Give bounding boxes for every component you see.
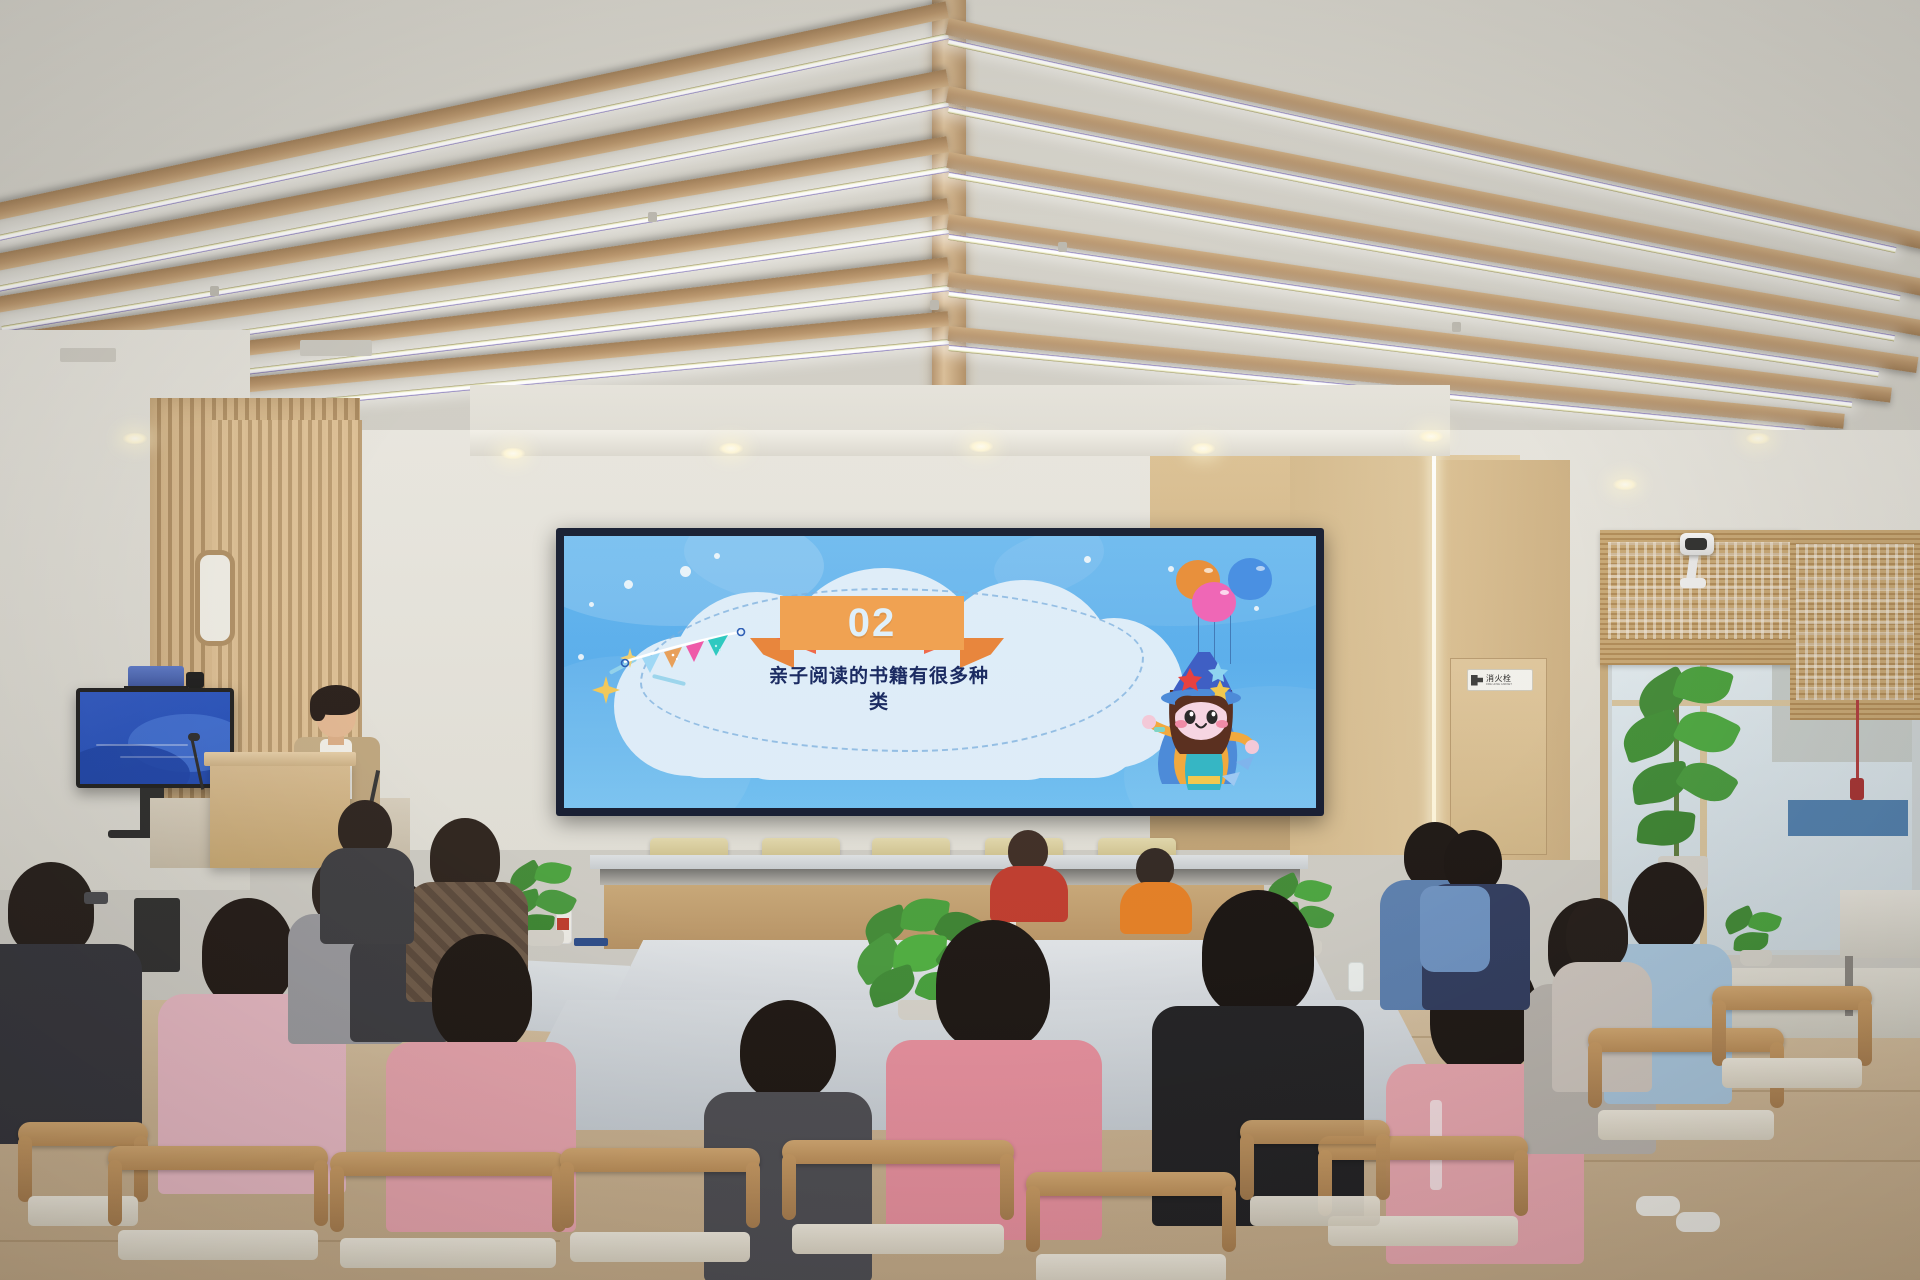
video-conference-camera — [128, 666, 184, 688]
chair[interactable] — [330, 1152, 566, 1280]
section-number: 02 — [848, 601, 897, 646]
chair[interactable] — [1240, 1120, 1390, 1240]
chair[interactable] — [782, 1140, 1014, 1280]
shoe — [1676, 1212, 1720, 1232]
camera-mount-base — [1680, 578, 1706, 588]
fire-hydrant-sign: 消火栓 FIRE HOSE CABINET — [1467, 669, 1533, 691]
ceiling-led-strip — [0, 101, 949, 292]
ceiling-soffit-face — [470, 430, 1450, 456]
security-camera-icon — [1680, 533, 1714, 555]
balloon-blue-icon — [1228, 558, 1272, 600]
window-outside-detail — [1788, 800, 1908, 836]
ceiling-vent — [60, 348, 116, 362]
sprinkler-head — [930, 300, 939, 310]
room-photo: 消火栓 FIRE HOSE CABINET — [0, 0, 1920, 1280]
chair[interactable] — [560, 1148, 760, 1280]
rear-table — [590, 855, 1308, 869]
rear-table-legs — [600, 869, 1300, 885]
lectern-top — [204, 752, 356, 766]
flat-panel-tv-screen[interactable] — [80, 692, 230, 784]
sprinkler-head — [1058, 242, 1067, 252]
bamboo-blind-right[interactable] — [1790, 530, 1920, 720]
potted-plant-right-tall — [1614, 660, 1744, 890]
chair[interactable] — [1712, 986, 1872, 1106]
led-video-wall-screen[interactable]: 02 亲子阅读的书籍有很多种 类 — [564, 536, 1316, 808]
sprinkler-head — [648, 212, 657, 222]
downlight — [500, 447, 526, 460]
section-number-banner: 02 — [780, 596, 964, 650]
fire-hydrant-sign-label: 消火栓 — [1486, 675, 1512, 683]
slide-title-line-1: 亲子阅读的书籍有很多种 — [714, 664, 1044, 690]
lectern — [210, 760, 350, 868]
downlight — [1745, 432, 1771, 445]
corner-led-strip — [1432, 452, 1436, 854]
ceiling-led-strip — [0, 33, 949, 241]
camera-secondary — [186, 672, 204, 688]
downlight — [1418, 430, 1444, 443]
blind-tassel[interactable] — [1850, 778, 1864, 800]
glasses-icon — [84, 892, 108, 904]
wall-notice-card — [200, 555, 230, 641]
fairy-girl-icon — [1140, 644, 1260, 794]
downlight — [1612, 478, 1638, 491]
downlight — [968, 440, 994, 453]
fire-hydrant-icon — [1471, 675, 1483, 686]
downlight — [122, 432, 148, 445]
side-cabinet — [1840, 890, 1920, 958]
downlight — [1190, 442, 1216, 455]
shoe — [1636, 1196, 1680, 1216]
chair[interactable] — [108, 1146, 328, 1280]
ceiling-vent — [300, 340, 372, 356]
downlight — [718, 442, 744, 455]
chair[interactable] — [1026, 1172, 1236, 1280]
ceiling-led-strip — [948, 39, 1897, 253]
presenter-hair-side — [310, 693, 326, 721]
slide-title-line-2: 类 — [714, 690, 1044, 716]
sprinkler-head — [210, 286, 219, 296]
slide-title: 亲子阅读的书籍有很多种 类 — [714, 664, 1044, 715]
podium-microphone-icon — [188, 733, 200, 741]
water-cup[interactable] — [1348, 962, 1364, 992]
blind-cord[interactable] — [1856, 700, 1859, 780]
loudspeaker — [134, 898, 180, 972]
fire-hydrant-sign-sublabel: FIRE HOSE CABINET — [1486, 683, 1512, 686]
sprinkler-head — [1452, 322, 1461, 332]
